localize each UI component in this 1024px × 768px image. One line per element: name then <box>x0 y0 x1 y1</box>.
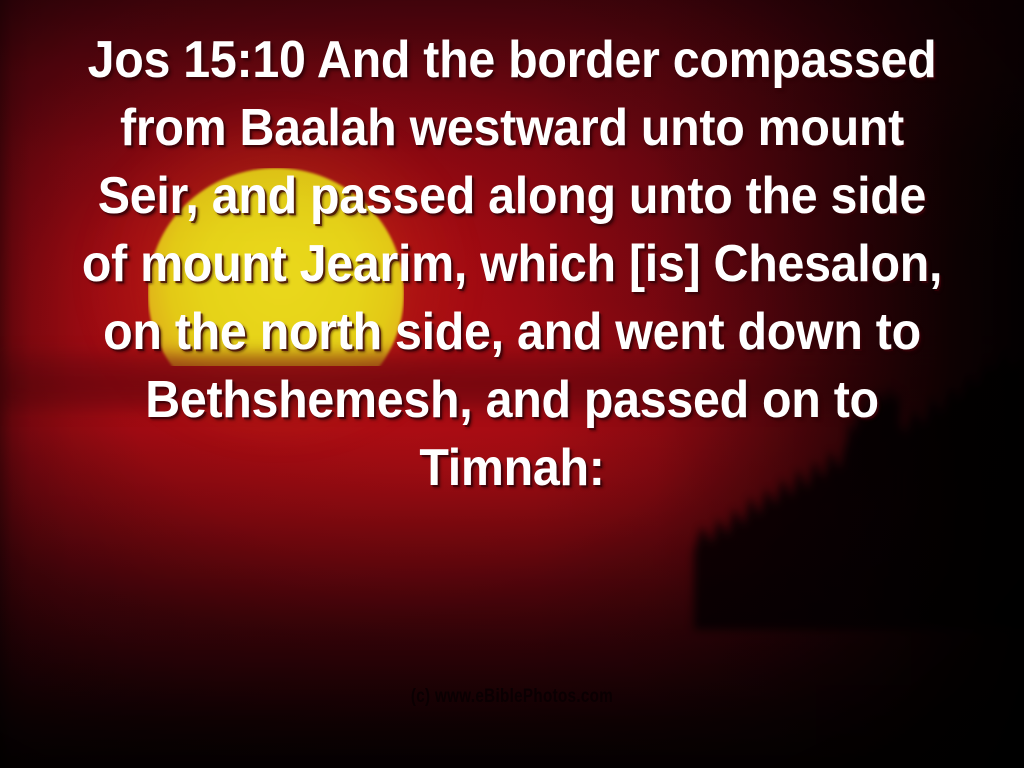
verse-text: Jos 15:10 And the border compassed from … <box>36 26 988 502</box>
watermark-text: (c) www.eBiblePhotos.com <box>102 686 921 708</box>
verse-image-canvas: Jos 15:10 And the border compassed from … <box>0 0 1024 768</box>
